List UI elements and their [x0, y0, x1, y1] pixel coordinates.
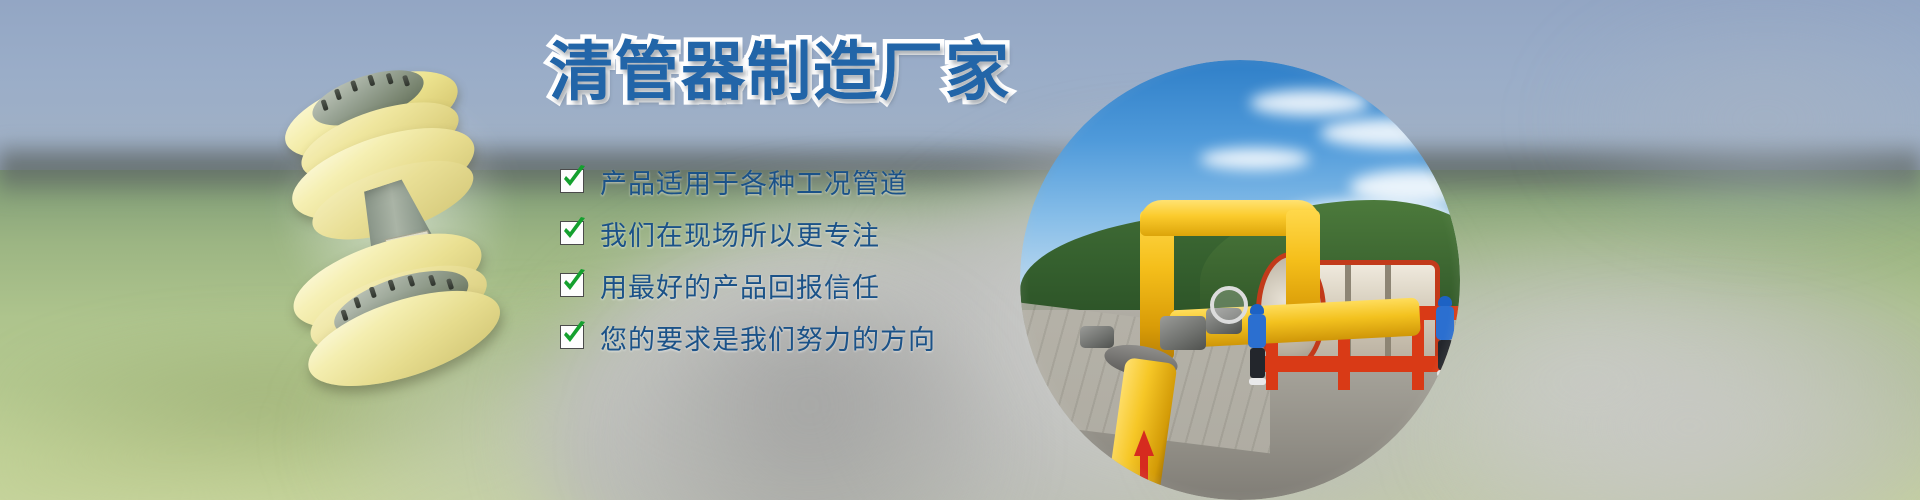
list-item: 用最好的产品回报信任: [560, 262, 980, 308]
list-item-label: 用最好的产品回报信任: [600, 266, 880, 305]
gas-pipeline-site-photo: [1020, 60, 1460, 500]
feature-list: 产品适用于各种工况管道 我们在现场所以更专注 用最好的产品回报信任: [560, 158, 980, 366]
checkbox-checked-icon: [560, 221, 584, 245]
page-title: 清管器制造厂家: [520, 38, 1040, 108]
list-item-label: 我们在现场所以更专注: [600, 214, 880, 253]
list-item-label: 您的要求是我们努力的方向: [600, 318, 936, 357]
photo-valve: [1160, 316, 1206, 350]
checkbox-checked-icon: [560, 273, 584, 297]
photo-handwheel: [1210, 286, 1248, 324]
list-item: 我们在现场所以更专注: [560, 210, 980, 256]
promo-banner: 清管器制造厂家 清管器制造厂家 产品适用于各种工况管道 我们在现场所以更专注: [0, 0, 1920, 500]
list-item: 您的要求是我们努力的方向: [560, 314, 980, 360]
checkbox-checked-icon: [560, 325, 584, 349]
checkbox-checked-icon: [560, 169, 584, 193]
list-item: 产品适用于各种工况管道: [560, 158, 980, 204]
photo-red-frame: [1256, 356, 1460, 372]
photo-flow-arrow-icon: [1140, 452, 1148, 486]
photo-valve: [1080, 326, 1114, 348]
list-item-label: 产品适用于各种工况管道: [600, 162, 908, 201]
